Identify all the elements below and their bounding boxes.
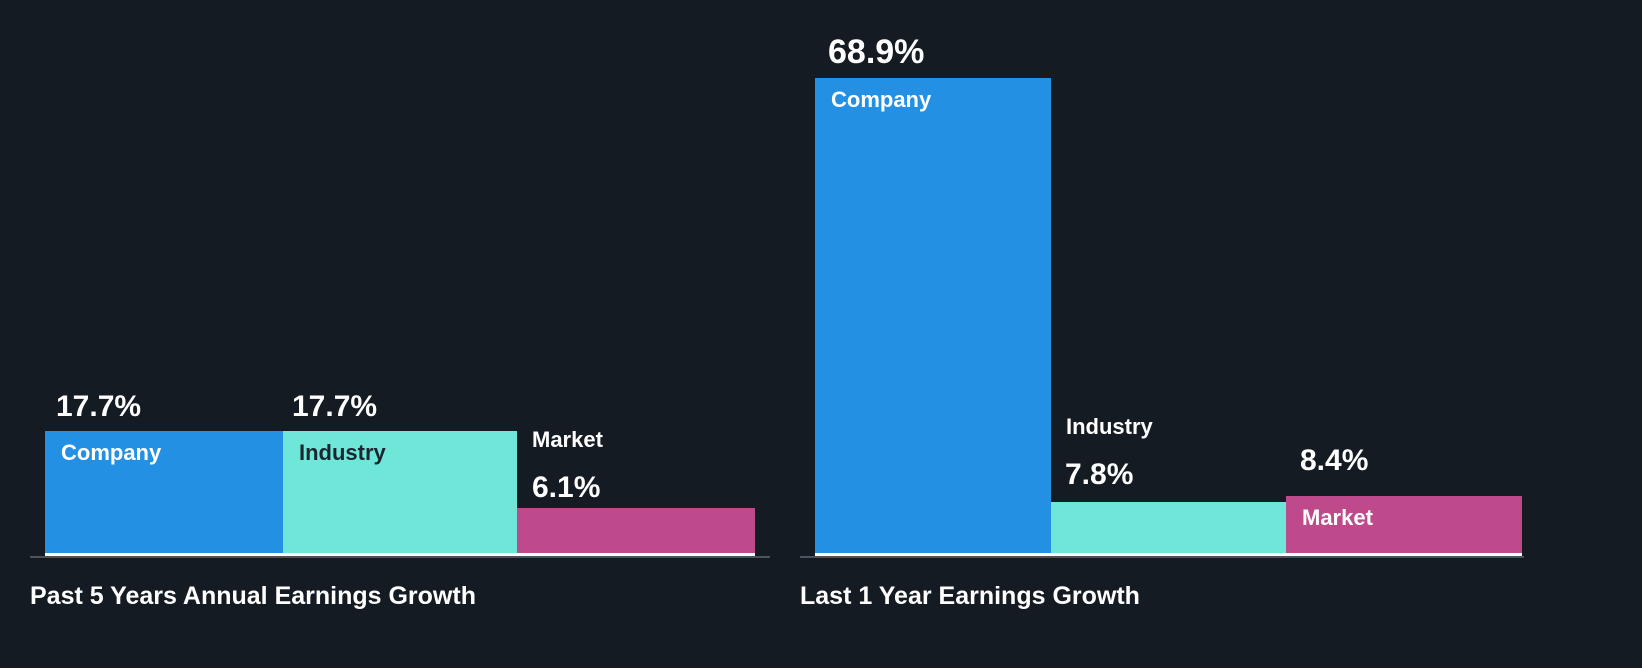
earnings-growth-comparison-figure: Company 17.7% Industry 17.7% Market 6.1%… <box>0 0 1642 668</box>
bar-company-value-left: 17.7% <box>56 390 141 423</box>
plot-area-right: Company 68.9% Industry 7.8% Market 8.4% <box>800 0 1642 558</box>
bar-company-right[interactable]: Company <box>815 78 1051 556</box>
bar-industry-label-right: Industry <box>1066 415 1153 439</box>
chart-past-5-years-annual-earnings-growth: Company 17.7% Industry 17.7% Market 6.1%… <box>0 0 800 668</box>
bar-market-value-left: 6.1% <box>532 471 600 504</box>
bar-industry-value-left: 17.7% <box>292 390 377 423</box>
chart-last-1-year-earnings-growth: Company 68.9% Industry 7.8% Market 8.4% … <box>800 0 1642 668</box>
bar-company-left[interactable]: Company <box>45 431 283 556</box>
chart-title-right: Last 1 Year Earnings Growth <box>800 583 1140 611</box>
bar-market-left[interactable] <box>517 508 755 556</box>
plot-area-left: Company 17.7% Industry 17.7% Market 6.1% <box>0 0 800 558</box>
bar-industry-value-right: 7.8% <box>1065 458 1133 491</box>
bar-market-right[interactable]: Market <box>1286 496 1522 556</box>
baseline-axis-right <box>800 556 1524 558</box>
bar-company-label-left: Company <box>61 441 161 465</box>
bar-company-label-right: Company <box>831 88 931 112</box>
bar-industry-label-left: Industry <box>299 441 386 465</box>
bar-industry-left[interactable]: Industry <box>283 431 517 556</box>
bar-market-label-left: Market <box>532 428 603 452</box>
bar-company-value-right: 68.9% <box>828 34 924 71</box>
bar-market-label-right: Market <box>1302 506 1373 530</box>
baseline-axis-left <box>30 556 770 558</box>
chart-title-left: Past 5 Years Annual Earnings Growth <box>30 583 476 611</box>
bar-market-value-right: 8.4% <box>1300 444 1368 477</box>
bar-industry-right[interactable] <box>1051 502 1286 556</box>
